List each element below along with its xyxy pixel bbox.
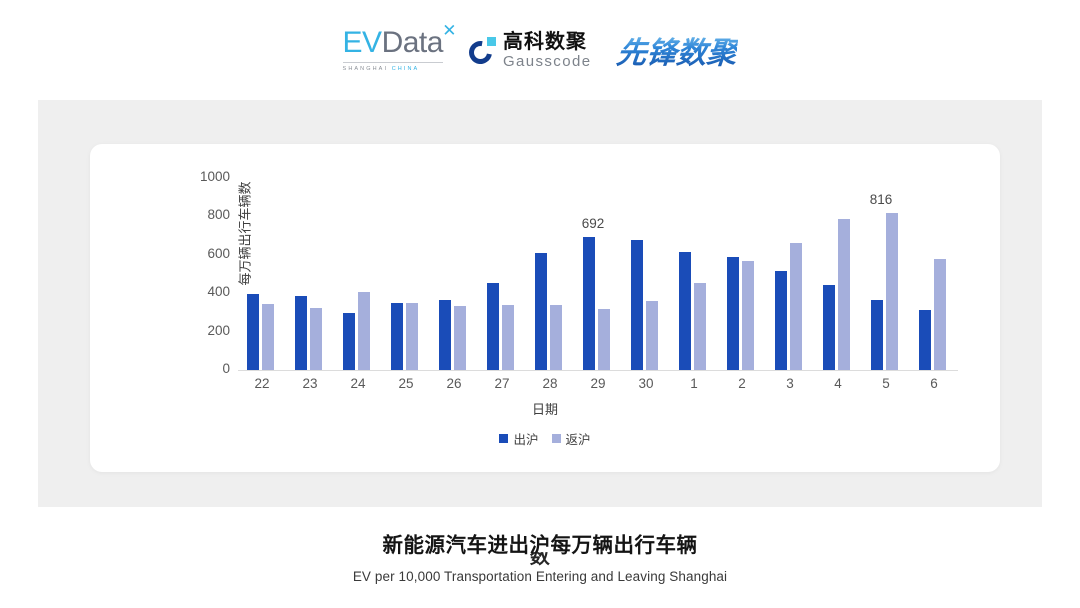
- x-tick-label: 29: [575, 376, 621, 391]
- x-tick-label: 5: [863, 376, 909, 391]
- x-tick-label: 30: [623, 376, 669, 391]
- bar-fanhu[interactable]: [550, 305, 562, 370]
- gausscode-wordmark: 高科数聚 Gausscode: [503, 32, 591, 69]
- xianfeng-cn-text: 先锋数聚: [615, 28, 740, 72]
- bar-chuhu[interactable]: [391, 303, 403, 370]
- bar-fanhu[interactable]: [742, 261, 754, 370]
- bar-chuhu[interactable]: [583, 237, 595, 370]
- bar-value-label: 816: [858, 192, 904, 207]
- evdata-ev-text: EV: [343, 26, 382, 59]
- y-tick-label: 400: [186, 284, 230, 299]
- bar-group: [766, 178, 814, 370]
- bar-group: [526, 178, 574, 370]
- bar-group: [334, 178, 382, 370]
- logo-evdata: EVData ✕ SHANGHAI CHINA: [343, 28, 443, 72]
- y-tick-label: 600: [186, 246, 230, 261]
- bar-fanhu[interactable]: [262, 304, 274, 370]
- evdata-wordmark: EVData ✕: [343, 28, 443, 58]
- bar-group: [910, 178, 958, 370]
- legend-label: 出沪: [513, 429, 538, 448]
- bar-fanhu[interactable]: [790, 243, 802, 370]
- bar-fanhu[interactable]: [406, 303, 418, 370]
- bar-chuhu[interactable]: [919, 310, 931, 370]
- bar-chuhu[interactable]: [247, 294, 259, 370]
- bar-chart: 每万辆出行车辆数 02004006008001000 692816 222324…: [90, 144, 1000, 472]
- x-tick-label: 1: [671, 376, 717, 391]
- evdata-tagline-china: CHINA: [392, 66, 420, 72]
- caption-subtitle: EV per 10,000 Transportation Entering an…: [0, 569, 1080, 584]
- bar-group: 692: [574, 178, 622, 370]
- bar-series-container: 692816: [238, 178, 958, 370]
- x-axis-line: [238, 370, 958, 371]
- bar-chuhu[interactable]: [823, 285, 835, 370]
- caption-title-text: 新能源汽车进出沪每万辆出行车辆: [383, 533, 698, 557]
- legend-label: 返沪: [566, 429, 591, 448]
- bar-group: [718, 178, 766, 370]
- x-tick-label: 3: [767, 376, 813, 391]
- gausscode-cn-text: 高科数聚: [503, 32, 591, 52]
- bar-chuhu[interactable]: [535, 253, 547, 370]
- bar-fanhu[interactable]: [838, 219, 850, 370]
- evdata-tagline-shanghai: SHANGHAI: [343, 66, 392, 72]
- chart-legend: 出沪返沪: [90, 429, 1000, 448]
- logo-strip: EVData ✕ SHANGHAI CHINA 高科数聚 Gausscode 先…: [0, 14, 1080, 86]
- bar-group: [814, 178, 862, 370]
- bar-chuhu[interactable]: [871, 300, 883, 370]
- x-axis-title: 日期: [90, 399, 1000, 418]
- bar-chuhu[interactable]: [295, 296, 307, 370]
- bar-value-label: 692: [570, 216, 616, 231]
- bar-chuhu[interactable]: [631, 240, 643, 370]
- evdata-data-text: Data: [382, 26, 443, 59]
- legend-item[interactable]: 返沪: [552, 429, 591, 448]
- x-tick-label: 23: [287, 376, 333, 391]
- y-tick-label: 1000: [186, 169, 230, 184]
- bar-group: [430, 178, 478, 370]
- y-tick-label: 200: [186, 323, 230, 338]
- chart-card: 每万辆出行车辆数 02004006008001000 692816 222324…: [90, 144, 1000, 472]
- bar-group: [238, 178, 286, 370]
- bar-chuhu[interactable]: [727, 257, 739, 370]
- x-tick-label: 28: [527, 376, 573, 391]
- bar-fanhu[interactable]: [502, 305, 514, 370]
- bar-fanhu[interactable]: [694, 283, 706, 370]
- legend-swatch: [499, 434, 508, 443]
- bar-fanhu[interactable]: [598, 309, 610, 370]
- y-tick-label: 800: [186, 207, 230, 222]
- bar-group: 816: [862, 178, 910, 370]
- bar-chuhu[interactable]: [439, 300, 451, 370]
- bar-fanhu[interactable]: [358, 292, 370, 370]
- x-tick-label: 22: [239, 376, 285, 391]
- bar-group: [286, 178, 334, 370]
- logo-gausscode: 高科数聚 Gausscode: [469, 32, 591, 69]
- legend-swatch: [552, 434, 561, 443]
- x-tick-label: 27: [479, 376, 525, 391]
- bar-group: [622, 178, 670, 370]
- legend-item[interactable]: 出沪: [499, 429, 538, 448]
- bar-chuhu[interactable]: [343, 313, 355, 370]
- bar-chuhu[interactable]: [679, 252, 691, 370]
- x-tick-label: 26: [431, 376, 477, 391]
- caption-block: 新能源汽车进出沪每万辆出行车辆 数 EV per 10,000 Transpor…: [0, 528, 1080, 584]
- x-tick-label: 4: [815, 376, 861, 391]
- bar-fanhu[interactable]: [454, 306, 466, 370]
- bar-fanhu[interactable]: [310, 308, 322, 370]
- bar-chuhu[interactable]: [487, 283, 499, 370]
- slide-root: EVData ✕ SHANGHAI CHINA 高科数聚 Gausscode 先…: [0, 0, 1080, 608]
- logo-xianfeng: 先锋数聚: [617, 28, 737, 72]
- bar-fanhu[interactable]: [934, 259, 946, 370]
- bar-fanhu[interactable]: [886, 213, 898, 370]
- bar-group: [382, 178, 430, 370]
- gausscode-en-text: Gausscode: [503, 54, 591, 69]
- y-tick-label: 0: [186, 361, 230, 376]
- x-tick-label: 6: [911, 376, 957, 391]
- evdata-x-icon: ✕: [442, 22, 456, 39]
- bar-fanhu[interactable]: [646, 301, 658, 370]
- bar-group: [478, 178, 526, 370]
- caption-title: 新能源汽车进出沪每万辆出行车辆 数: [0, 528, 1080, 558]
- x-tick-label: 2: [719, 376, 765, 391]
- bar-group: [670, 178, 718, 370]
- gausscode-g-icon: [469, 37, 496, 64]
- x-tick-label: 25: [383, 376, 429, 391]
- bar-chuhu[interactable]: [775, 271, 787, 370]
- x-tick-label: 24: [335, 376, 381, 391]
- evdata-tagline: SHANGHAI CHINA: [343, 62, 443, 72]
